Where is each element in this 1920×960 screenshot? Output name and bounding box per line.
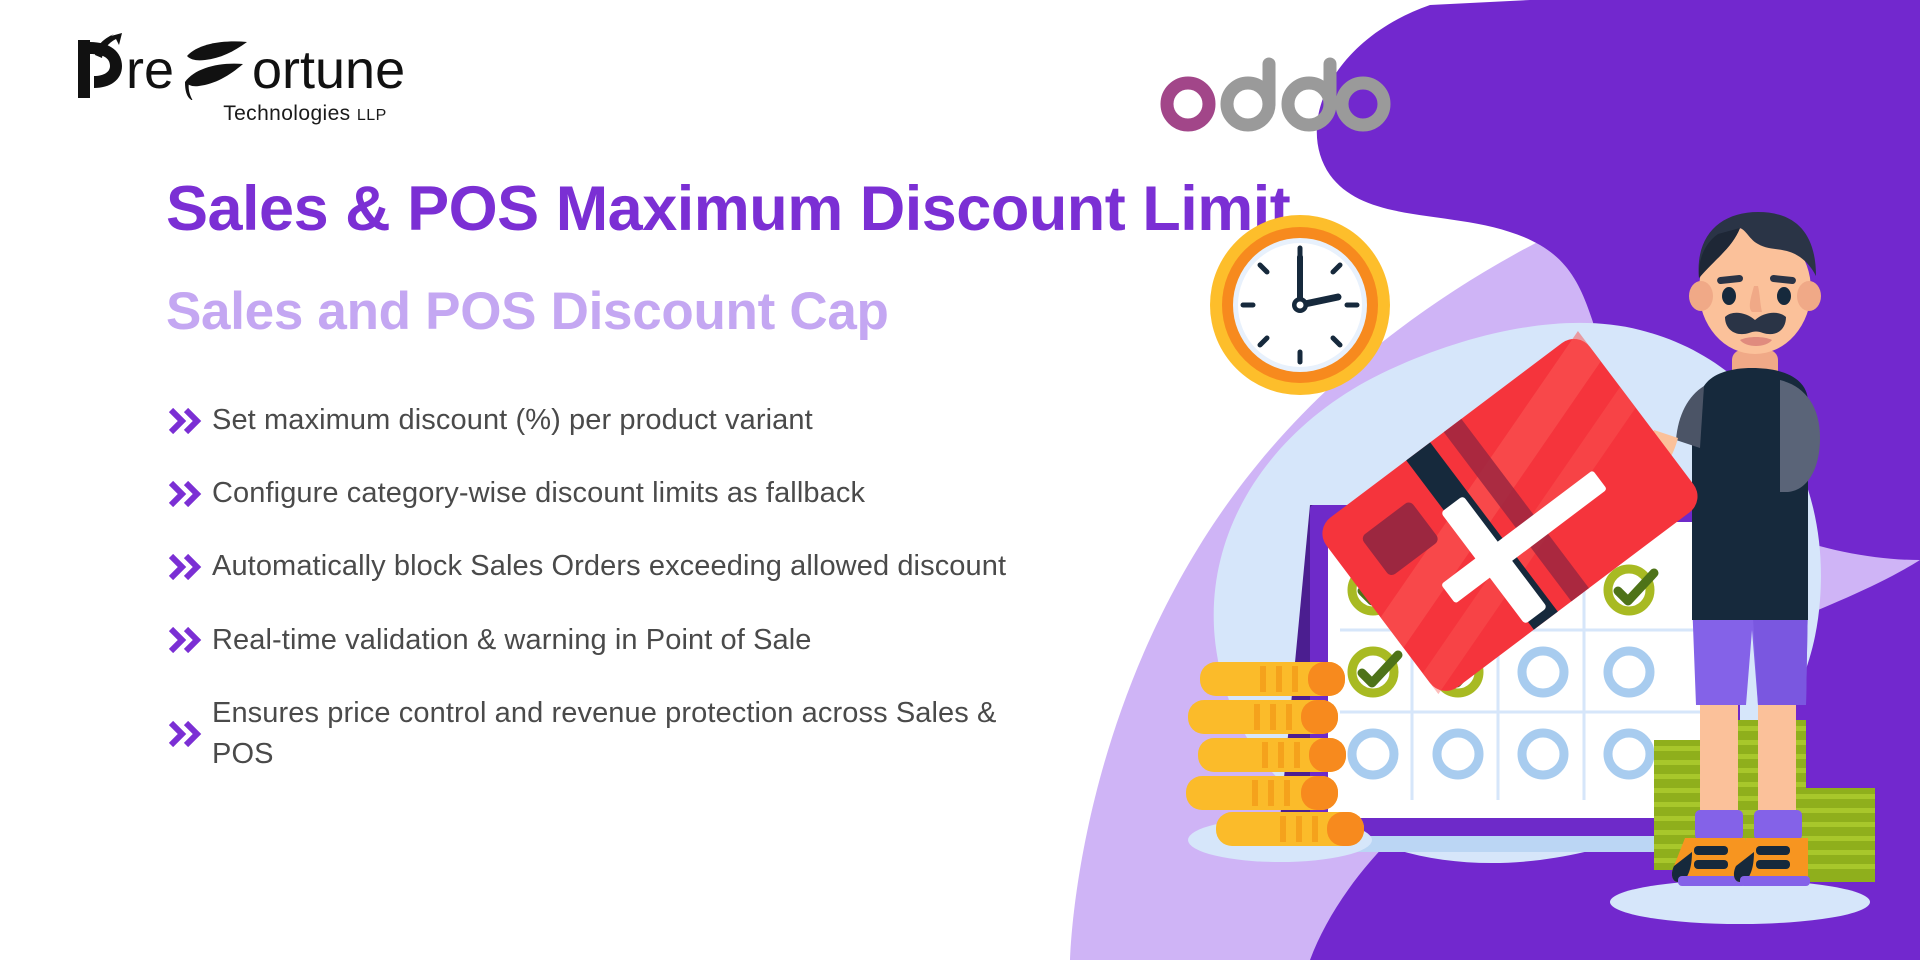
feature-list-item-label: Real-time validation & warning in Point … — [212, 620, 812, 661]
double-chevron-icon — [160, 408, 212, 434]
page-title: Sales & POS Maximum Discount Limit — [166, 176, 1290, 242]
brand-logo-subtitle-main: Technologies — [223, 102, 350, 125]
wall-clock-icon — [1210, 215, 1390, 395]
brand-logo: re ortune Technologies LLP — [70, 28, 490, 126]
feature-list-item: Configure category-wise discount limits … — [160, 473, 1190, 514]
double-chevron-icon — [160, 721, 212, 747]
double-chevron-icon — [160, 481, 212, 507]
feature-list-item-label: Configure category-wise discount limits … — [212, 473, 865, 514]
svg-text:re: re — [126, 40, 174, 100]
odoo-logo-icon — [1152, 52, 1392, 132]
shoe-icon — [1734, 838, 1810, 886]
feature-list-item: Real-time validation & warning in Point … — [160, 620, 1190, 661]
svg-text:ortune: ortune — [252, 40, 405, 100]
feature-list-item-label: Ensures price control and revenue protec… — [212, 693, 1042, 775]
feature-list-item-label: Set maximum discount (%) per product var… — [212, 400, 813, 441]
feature-list-item: Automatically block Sales Orders exceedi… — [160, 546, 1190, 587]
brand-logo-subtitle-suffix: LLP — [357, 107, 387, 124]
double-chevron-icon — [160, 554, 212, 580]
discount-cap-illustration — [1180, 200, 1920, 960]
shoe-icon — [1672, 838, 1746, 886]
page-subtitle: Sales and POS Discount Cap — [166, 284, 889, 340]
feature-list-item: Ensures price control and revenue protec… — [160, 693, 1190, 775]
double-chevron-icon — [160, 627, 212, 653]
feature-list: Set maximum discount (%) per product var… — [160, 400, 1190, 807]
brand-logo-subtitle: Technologies LLP — [70, 102, 490, 126]
feature-list-item: Set maximum discount (%) per product var… — [160, 400, 1190, 441]
feature-list-item-label: Automatically block Sales Orders exceedi… — [212, 546, 1006, 587]
poster-canvas: re ortune Technologies LLP Sales & POS M… — [0, 0, 1920, 960]
odoo-logo — [1152, 52, 1392, 137]
prefortune-wordmark-icon: re ortune — [70, 28, 470, 100]
